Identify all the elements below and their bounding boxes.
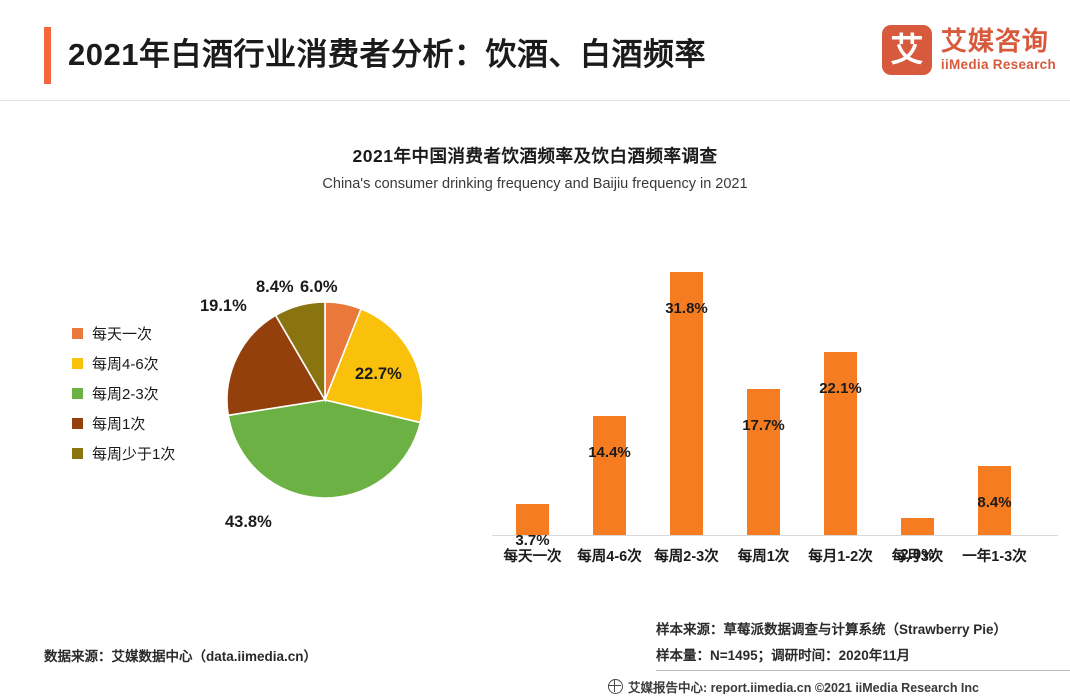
legend-swatch-icon [72, 358, 83, 369]
footer-sample-size: 样本量：N=1495；调研时间：2020年11月 [656, 643, 1056, 669]
globe-icon [608, 679, 623, 694]
bottom-edge [0, 694, 1070, 698]
footer-sample-source: 样本来源：草莓派数据调查与计算系统（Strawberry Pie） [656, 617, 1056, 643]
bar-category-label-4: 每月1-2次 [798, 545, 884, 566]
pie-legend-label: 每周少于1次 [92, 443, 175, 464]
bar-value-label-4: 22.1% [806, 380, 876, 397]
bar-1 [593, 416, 626, 535]
bar-category-label-5: 每月3次 [875, 545, 961, 566]
pie-legend-item-3[interactable]: 每周1次 [72, 408, 232, 438]
pie-slice-label-2: 43.8% [225, 513, 272, 532]
bar-chart-panel: 3.7%每天一次14.4%每周4-6次31.8%每周2-3次17.7%每周1次2… [480, 230, 1070, 575]
pie-legend-label: 每天一次 [92, 323, 152, 344]
logo-mark-icon: 艾 [882, 25, 932, 75]
title-accent-bar [44, 27, 51, 84]
pie-legend-label: 每周4-6次 [92, 353, 159, 374]
page-title: 2021年白酒行业消费者分析：饮酒、白酒频率 [68, 26, 706, 84]
legend-swatch-icon [72, 328, 83, 339]
bar-value-label-3: 17.7% [729, 417, 799, 434]
legend-swatch-icon [72, 448, 83, 459]
bar-category-label-3: 每周1次 [721, 545, 807, 566]
logo-text: 艾媒咨询 iiMedia Research [941, 27, 1056, 73]
bar-value-label-1: 14.4% [575, 444, 645, 461]
page-header: 2021年白酒行业消费者分析：饮酒、白酒频率 艾 艾媒咨询 iiMedia Re… [0, 0, 1070, 100]
bar-category-label-0: 每天一次 [490, 545, 576, 566]
pie-slice-label-0: 6.0% [300, 278, 338, 297]
bar-value-label-2: 31.8% [652, 300, 722, 317]
bar-chart-axis-line [492, 535, 1058, 536]
chart-subtitle: China's consumer drinking frequency and … [0, 176, 1070, 192]
header-divider [0, 100, 1070, 101]
footer-data-source: 数据来源：艾媒数据中心（data.iimedia.cn） [44, 645, 317, 665]
footer-divider [656, 670, 1070, 671]
bar-0 [516, 504, 549, 535]
chart-title: 2021年中国消费者饮酒频率及饮白酒频率调查 [0, 143, 1070, 168]
pie-slice-label-3: 19.1% [200, 297, 247, 316]
pie-legend-label: 每周2-3次 [92, 383, 159, 404]
bar-category-label-6: 一年1-3次 [952, 545, 1038, 566]
bar-category-label-2: 每周2-3次 [644, 545, 730, 566]
pie-chart-graphic [225, 300, 425, 500]
pie-legend: 每天一次每周4-6次每周2-3次每周1次每周少于1次 [72, 318, 232, 468]
bar-category-label-1: 每周4-6次 [567, 545, 653, 566]
pie-slice-label-4: 8.4% [256, 278, 294, 297]
bar-3 [747, 389, 780, 535]
pie-legend-item-2[interactable]: 每周2-3次 [72, 378, 232, 408]
pie-legend-item-0[interactable]: 每天一次 [72, 318, 232, 348]
legend-swatch-icon [72, 388, 83, 399]
pie-slice-label-1: 22.7% [355, 365, 402, 384]
pie-legend-item-1[interactable]: 每周4-6次 [72, 348, 232, 378]
bar-value-label-6: 8.4% [960, 494, 1030, 511]
legend-swatch-icon [72, 418, 83, 429]
logo-name-cn: 艾媒咨询 [941, 27, 1056, 56]
bar-5 [901, 518, 934, 535]
pie-legend-label: 每周1次 [92, 413, 145, 434]
logo-name-en: iiMedia Research [941, 56, 1056, 73]
pie-legend-item-4[interactable]: 每周少于1次 [72, 438, 232, 468]
brand-logo: 艾 艾媒咨询 iiMedia Research [882, 24, 1056, 76]
footer-sample-block: 样本来源：草莓派数据调查与计算系统（Strawberry Pie） 样本量：N=… [656, 617, 1056, 669]
